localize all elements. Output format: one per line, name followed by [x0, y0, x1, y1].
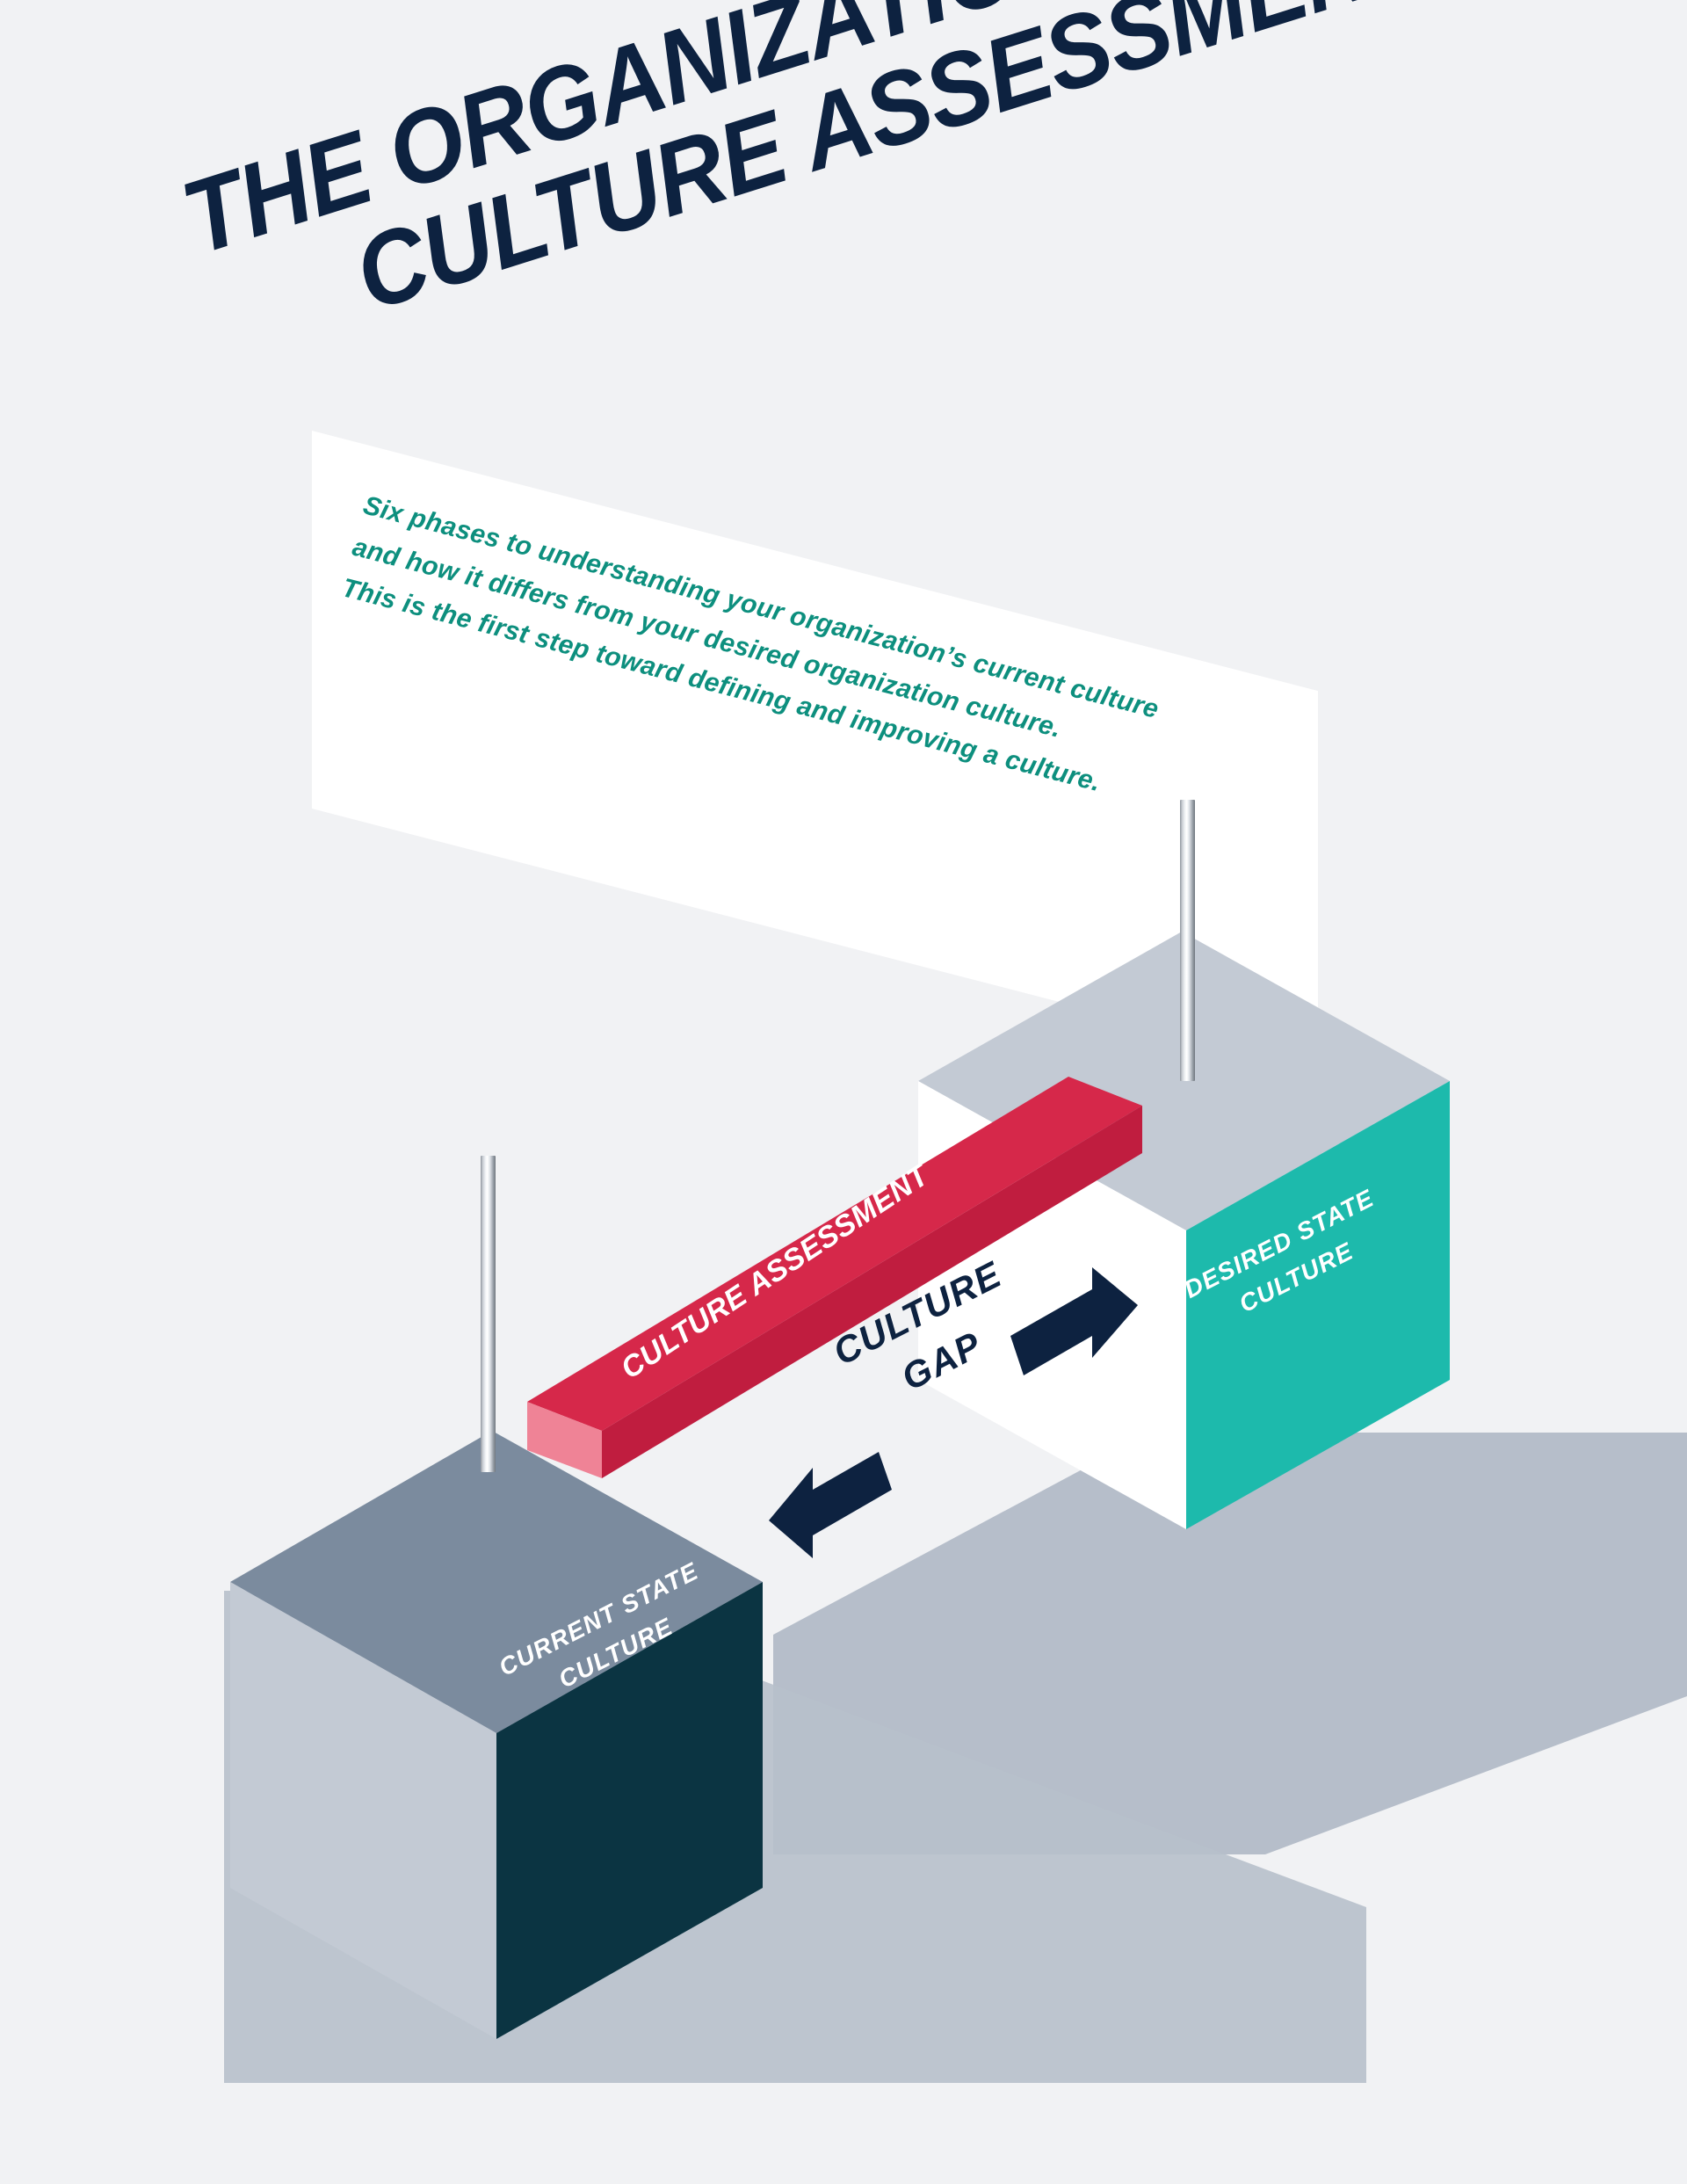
isometric-scene — [0, 0, 1687, 2184]
culture-gap-arrow-left — [769, 1452, 892, 1558]
sign-pole-right — [1180, 800, 1195, 1081]
infographic-canvas: THE ORGANIZATIONAL CULTURE ASSESSMENT Si… — [0, 0, 1687, 2184]
sign-pole-left — [481, 1156, 496, 1472]
